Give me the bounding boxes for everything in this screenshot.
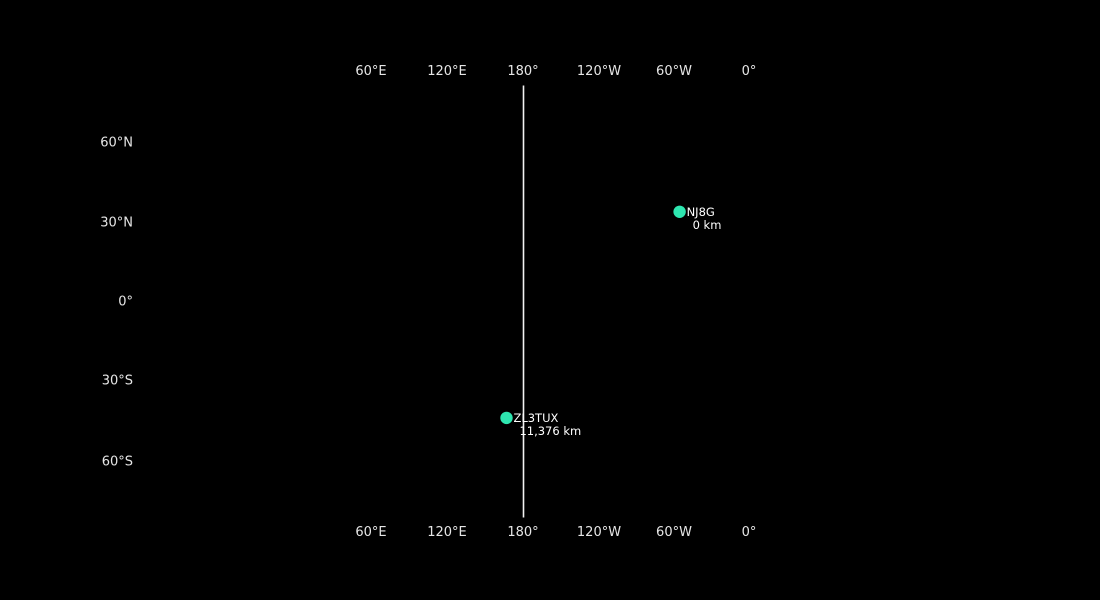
axis-tick-bottom_ticks-4: 60°W — [656, 525, 692, 540]
robinson-map-canvas — [0, 0, 1100, 600]
axis-tick-top_ticks-3: 120°W — [577, 64, 621, 79]
axis-tick-top_ticks-4: 60°W — [656, 64, 692, 79]
marker-label-zl3tux: ZL3TUX11,376 km — [513, 412, 581, 438]
axis-tick-bottom_ticks-2: 180° — [507, 525, 538, 540]
axis-tick-left_ticks-0: 60°N — [100, 136, 133, 151]
axis-tick-left_ticks-2: 0° — [118, 295, 133, 310]
axis-tick-left_ticks-3: 30°S — [102, 374, 133, 389]
axis-tick-bottom_ticks-5: 0° — [742, 525, 757, 540]
axis-tick-bottom_ticks-0: 60°E — [355, 525, 386, 540]
map-background — [0, 0, 1100, 600]
marker-distance: 0 km — [693, 219, 722, 232]
marker-callsign: NJ8G — [687, 206, 722, 219]
axis-tick-top_ticks-2: 180° — [507, 64, 538, 79]
axis-tick-top_ticks-5: 0° — [742, 64, 757, 79]
marker-label-nj8g: NJ8G0 km — [687, 206, 722, 232]
axis-tick-bottom_ticks-3: 120°W — [577, 525, 621, 540]
axis-tick-left_ticks-4: 60°S — [102, 455, 133, 470]
map-figure: Robinson Projection DM33 to RE66HO (226°… — [0, 0, 1100, 600]
marker-distance: 11,376 km — [519, 425, 581, 438]
axis-tick-top_ticks-1: 120°E — [427, 64, 467, 79]
marker-callsign: ZL3TUX — [513, 412, 581, 425]
axis-tick-left_ticks-1: 30°N — [100, 216, 133, 231]
axis-tick-bottom_ticks-1: 120°E — [427, 525, 467, 540]
station-marker-zl3tux[interactable] — [500, 412, 512, 424]
axis-tick-top_ticks-0: 60°E — [355, 64, 386, 79]
station-marker-nj8g[interactable] — [673, 206, 685, 218]
